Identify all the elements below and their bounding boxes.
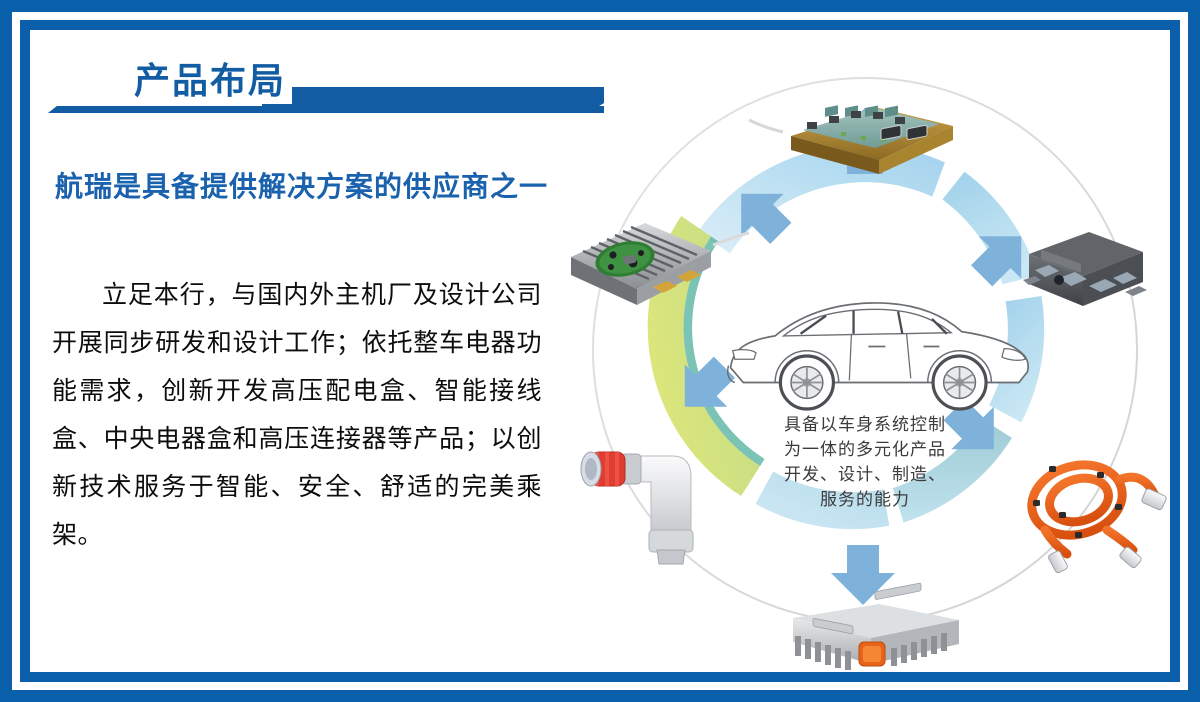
diagram-canvas	[545, 30, 1185, 670]
product-orange-hv-cable-harness	[1023, 455, 1167, 574]
center-text-line-3: 开发、设计、制造、	[735, 462, 995, 487]
center-text-line-2: 为一体的多元化产品	[735, 437, 995, 462]
product-hv-right-angle-connector	[581, 452, 693, 564]
title-underline-rule	[48, 106, 604, 113]
body-paragraph: 立足本行，与国内外主机厂及设计公司开展同步研发和设计工作；依托整车电器功能需求，…	[52, 272, 542, 560]
product-junction-box-module	[1023, 232, 1147, 306]
slide-root: 产品布局 航瑞是具备提供解决方案的供应商之一 立足本行，与国内外主机厂及设计公司…	[0, 0, 1200, 702]
product-layout-diagram: 具备以车身系统控制 为一体的多元化产品 开发、设计、制造、 服务的能力	[545, 30, 1185, 670]
diagram-center-text: 具备以车身系统控制 为一体的多元化产品 开发、设计、制造、 服务的能力	[735, 412, 995, 512]
sedan-car-outline-image	[728, 303, 1028, 409]
product-hv-power-distribution-box	[793, 583, 959, 670]
section-subheading: 航瑞是具备提供解决方案的供应商之一	[55, 165, 548, 205]
page-title: 产品布局	[128, 58, 292, 104]
center-text-line-4: 服务的能力	[735, 487, 995, 512]
section-title-group: 产品布局	[48, 58, 608, 120]
center-text-line-1: 具备以车身系统控制	[735, 412, 995, 437]
